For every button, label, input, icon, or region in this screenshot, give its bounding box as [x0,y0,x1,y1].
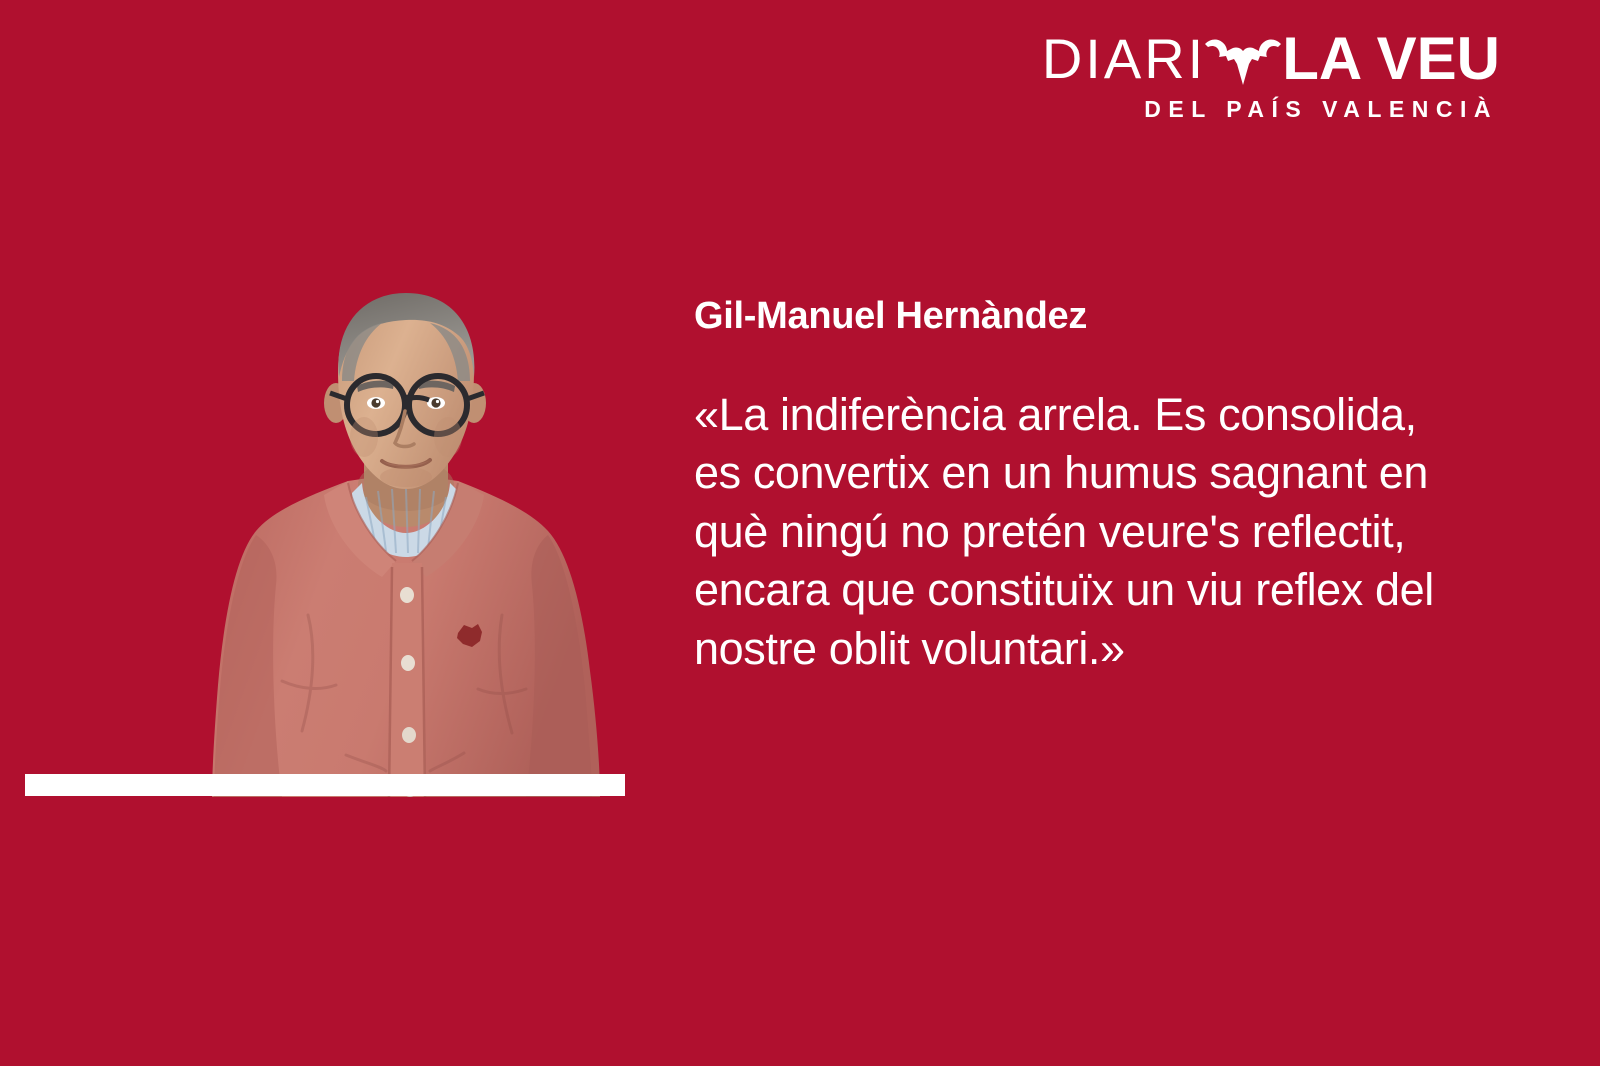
portrait-illustration [196,285,616,797]
author-name: Gil-Manuel Hernàndez [694,296,1454,338]
decorative-rule [25,774,625,796]
logo-word-diari: DIARI [1042,31,1206,87]
bat-icon [1200,30,1286,88]
quote-card: DIARI LA VEU DEL PAÍS VALENCIÀ [0,0,1600,1066]
author-portrait [196,285,616,797]
logo-wordmark-row: DIARI LA VEU [1000,28,1500,90]
quote-text-block: Gil-Manuel Hernàndez «La indiferència ar… [694,296,1454,678]
logo-tagline: DEL PAÍS VALENCIÀ [1000,96,1500,123]
diari-la-veu-logo[interactable]: DIARI LA VEU DEL PAÍS VALENCIÀ [1000,28,1500,128]
quote-body: «La indiferència arrela. Es consolida, e… [694,386,1454,679]
logo-word-la-veu: LA VEU [1282,29,1500,89]
